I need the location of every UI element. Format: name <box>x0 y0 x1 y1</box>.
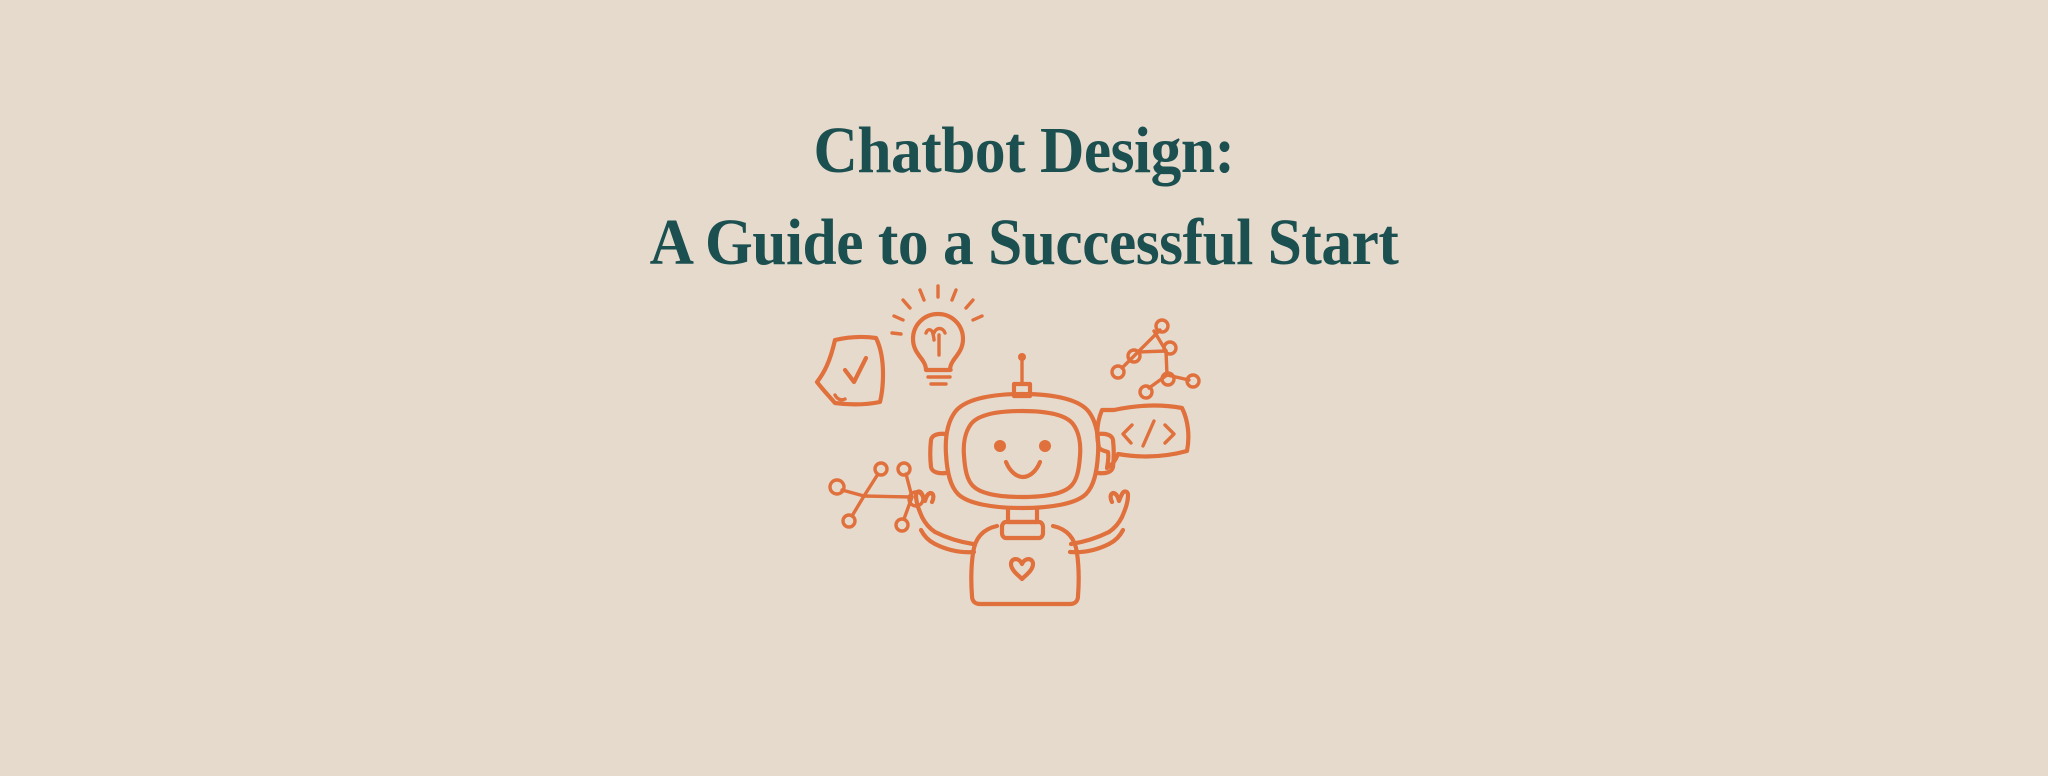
page-title: Chatbot Design: A Guide to a Successful … <box>0 118 2048 276</box>
hero-banner: Chatbot Design: A Guide to a Successful … <box>0 0 2048 776</box>
robot-forearm-right <box>1109 517 1122 532</box>
robot-neck-collar <box>1002 522 1043 538</box>
robot-face-screen <box>964 411 1080 497</box>
robot-forearm-left <box>922 517 935 532</box>
robot-arm-right-upper <box>1071 532 1109 544</box>
headline-line-2: A Guide to a Successful Start <box>72 210 1977 276</box>
headline-line-1: Chatbot Design: <box>72 118 1977 184</box>
robot-character <box>916 353 1128 604</box>
robot-ear-left <box>930 434 946 474</box>
shield-check-icon <box>817 337 883 404</box>
robot-hand-right <box>1111 491 1128 517</box>
robot-antenna-tip <box>1018 353 1026 361</box>
robot-heart-chest <box>1011 559 1033 579</box>
robot-smile <box>1006 462 1040 477</box>
robot-hand-left <box>916 491 933 517</box>
robot-eye-left <box>994 440 1006 452</box>
node-graph-left-icon <box>830 463 923 531</box>
lightbulb-icon <box>892 286 982 384</box>
node-graph-right-icon <box>1112 320 1199 398</box>
robot-arm-left-upper <box>935 532 973 544</box>
robot-eye-right <box>1039 440 1051 452</box>
chatbot-doodle-illustration <box>814 278 1234 578</box>
